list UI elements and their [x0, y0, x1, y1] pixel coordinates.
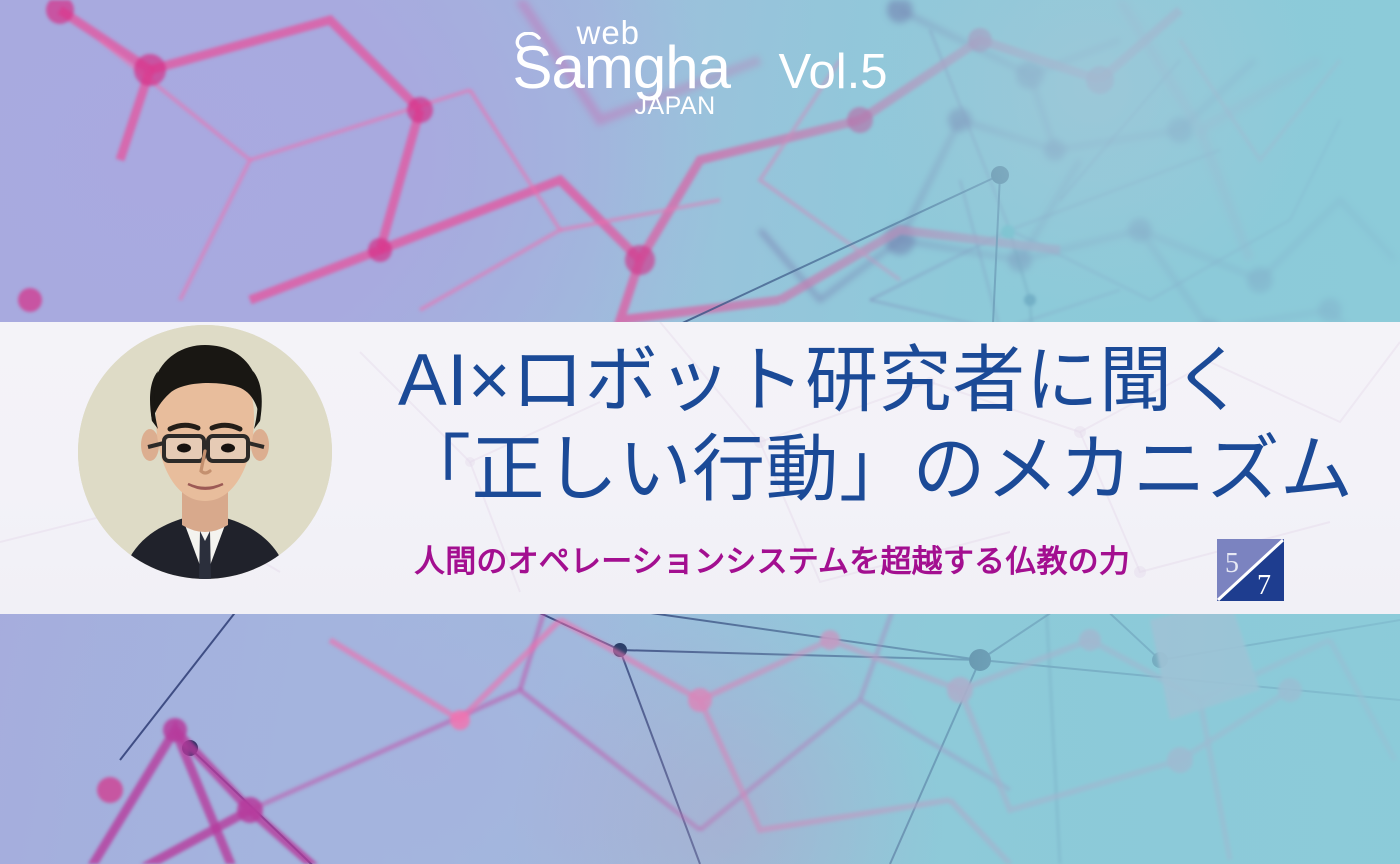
- samgha-logo[interactable]: web Samgha JAPAN: [513, 18, 745, 122]
- article-subtitle: 人間のオペレーションシステムを超越する仏教の力: [414, 546, 1130, 577]
- title-line-1: AI×ロボット研究者に聞く: [398, 336, 1298, 425]
- page-current: 5: [1225, 548, 1239, 579]
- page-title: AI×ロボット研究者に聞く 「正しい行動」のメカニズム: [398, 336, 1298, 514]
- page-indicator-icon: 5 7: [1217, 539, 1284, 601]
- volume-label: Vol.5: [779, 48, 888, 97]
- logo-samgha-text: Samgha: [513, 38, 730, 98]
- page-total: 7: [1257, 570, 1271, 601]
- subtitle-row: 人間のオペレーションシステムを超越する仏教の力: [414, 546, 1294, 577]
- article-banner: web Samgha JAPAN Vol.5: [0, 0, 1400, 864]
- avatar: [78, 325, 332, 579]
- portrait-illustration: [78, 325, 332, 579]
- logo-japan-text: JAPAN: [635, 94, 716, 119]
- title-line-2: 「正しい行動」のメカニズム: [398, 425, 1298, 514]
- status-badge: 5 7: [1217, 539, 1284, 601]
